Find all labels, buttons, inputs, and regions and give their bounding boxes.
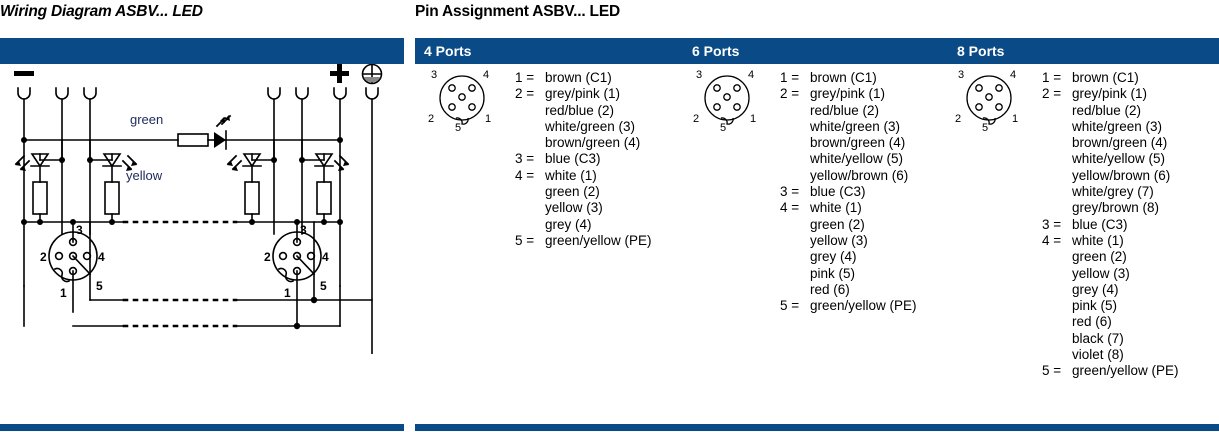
pin-value: green/yellow (PE) <box>1072 363 1179 378</box>
pin-line: red/blue (2) <box>780 103 917 119</box>
pin-value: blue (C3) <box>1072 217 1128 232</box>
pin-hole-4 <box>734 85 740 91</box>
connector-diagram-4-ports: 3 4 2 1 5 <box>425 66 499 132</box>
led-symbol-yellow-1 <box>15 154 49 171</box>
pin-list-8-ports: 1 =brown (C1)2 =grey/pink (1)red/blue (2… <box>1042 70 1179 380</box>
wiring-header-bar <box>0 38 404 64</box>
pin-assignment-footer-bar <box>415 424 1219 431</box>
connector-outline <box>967 76 1011 120</box>
pin-value: grey (4) <box>1072 282 1119 297</box>
pin-line: 5 =green/yellow (PE) <box>515 233 652 249</box>
pin-value: pink (5) <box>1072 298 1117 313</box>
pin-value: white/yellow (5) <box>810 151 903 166</box>
pin-line: white/yellow (5) <box>1042 151 1179 167</box>
connector-outline <box>705 76 749 120</box>
pin-hole-1 <box>996 104 1002 110</box>
pin-value: white (1) <box>810 200 862 215</box>
pin-line: grey (4) <box>1042 282 1179 298</box>
pin-line: 3 =blue (C3) <box>1042 217 1179 233</box>
pin-line: red (6) <box>1042 314 1179 330</box>
column-header-4-ports: 4 Ports <box>424 43 692 59</box>
pin-value: red/blue (2) <box>545 103 614 118</box>
pin-line: pink (5) <box>780 266 917 282</box>
left-pin-label-5: 5 <box>96 279 103 293</box>
pin-hole-center <box>459 94 465 100</box>
pin-hole-1 <box>469 104 475 110</box>
pin-index: 2 = <box>1042 86 1072 102</box>
pin-value: black (7) <box>1072 331 1124 346</box>
pin-line: grey/brown (8) <box>1042 200 1179 216</box>
pin-value: white/grey (7) <box>1072 184 1154 199</box>
pin-line: grey (4) <box>780 249 917 265</box>
pin-hole-3 <box>976 85 982 91</box>
pin-line: green (2) <box>780 217 917 233</box>
pin-line: 1 =brown (C1) <box>1042 70 1179 86</box>
pin-value: brown/green (4) <box>545 135 640 150</box>
pin-hole-2 <box>449 104 455 110</box>
pin-hole-center <box>986 94 992 100</box>
pin-hole-center <box>724 94 730 100</box>
pin-line: 4 =white (1) <box>515 168 652 184</box>
pin-line: white/green (3) <box>1042 119 1179 135</box>
pin-line: black (7) <box>1042 331 1179 347</box>
pin-index: 2 = <box>515 86 545 102</box>
pin-line: 2 =grey/pink (1) <box>780 86 917 102</box>
pin-value: yellow/brown (6) <box>810 168 908 183</box>
conn-label-4: 4 <box>483 69 489 81</box>
minus-symbol <box>14 71 34 76</box>
pin-value: grey/pink (1) <box>810 86 885 101</box>
pin-value: white (1) <box>1072 233 1124 248</box>
pin-value: green/yellow (PE) <box>545 233 652 248</box>
pin-value: red (6) <box>1072 314 1112 329</box>
pin-value: yellow (3) <box>810 233 868 248</box>
resistor-symbol <box>245 182 259 214</box>
pin-line: 3 =blue (C3) <box>515 151 652 167</box>
pin-assignment-panel: Pin Assignment ASBV... LED 4 Ports 6 Por… <box>415 0 1219 432</box>
right-pin-label-2: 2 <box>264 250 271 264</box>
pin-value: blue (C3) <box>810 184 866 199</box>
conn-label-5: 5 <box>982 122 988 132</box>
wiring-diagram-title: Wiring Diagram ASBV... LED <box>0 3 203 21</box>
right-pin-label-3: 3 <box>300 223 307 237</box>
led-symbol-yellow-4 <box>315 154 349 171</box>
pin-line: 1 =brown (C1) <box>515 70 652 86</box>
pin-line: yellow (3) <box>515 200 652 216</box>
conn-label-4: 4 <box>748 69 754 81</box>
pin-assignment-header-row: 4 Ports 6 Ports 8 Ports <box>415 38 1219 64</box>
pin-index: 5 = <box>780 298 810 314</box>
pin-hole-2 <box>976 104 982 110</box>
terminal-symbol <box>18 88 378 99</box>
pin-line: 2 =grey/pink (1) <box>1042 86 1179 102</box>
led-symbol-yellow-3 <box>227 154 261 171</box>
pin-line: 2 =grey/pink (1) <box>515 86 652 102</box>
conn-label-3: 3 <box>696 69 702 81</box>
pin-value: grey (4) <box>545 217 592 232</box>
conn-label-1: 1 <box>750 113 756 125</box>
pin-line: pink (5) <box>1042 298 1179 314</box>
pin-line: white/yellow (5) <box>780 151 917 167</box>
pin-assignment-title: Pin Assignment ASBV... LED <box>415 3 620 21</box>
pin-value: white/green (3) <box>810 119 900 134</box>
pin-index: 3 = <box>515 151 545 167</box>
pin-list-4-ports: 1 =brown (C1)2 =grey/pink (1)red/blue (2… <box>515 70 652 249</box>
pin-line: brown/green (4) <box>1042 135 1179 151</box>
pin-value: white/green (3) <box>545 119 635 134</box>
pin-value: yellow (3) <box>1072 266 1130 281</box>
conn-label-2: 2 <box>955 113 961 125</box>
pin-assignment-columns: 3 4 2 1 5 1 =brown (C1)2 =grey/pink (1)r… <box>415 66 1219 380</box>
pin-line: green (2) <box>1042 249 1179 265</box>
conn-label-1: 1 <box>485 113 491 125</box>
pin-value: green/yellow (PE) <box>810 298 917 313</box>
pin-value: grey/pink (1) <box>1072 86 1147 101</box>
pin-value: white/green (3) <box>1072 119 1162 134</box>
conn-label-2: 2 <box>428 113 434 125</box>
ground-symbol <box>363 65 382 84</box>
pin-value: grey (4) <box>810 249 857 264</box>
conn-label-5: 5 <box>455 122 461 132</box>
label-yellow: yellow <box>126 168 163 183</box>
connector-diagram-6-ports: 3 4 2 1 5 <box>690 66 764 132</box>
left-pin-label-2: 2 <box>40 250 47 264</box>
pin-line: yellow (3) <box>1042 266 1179 282</box>
pin-value: grey/brown (8) <box>1072 200 1159 215</box>
pin-value: red/blue (2) <box>810 103 879 118</box>
pin-list-6-ports: 1 =brown (C1)2 =grey/pink (1)red/blue (2… <box>780 70 917 314</box>
pin-line: 5 =green/yellow (PE) <box>1042 363 1179 379</box>
pin-index: 1 = <box>1042 70 1072 86</box>
conn-label-1: 1 <box>1012 113 1018 125</box>
pin-index: 5 = <box>1042 363 1072 379</box>
pin-value: grey/pink (1) <box>545 86 620 101</box>
pin-column-4-ports: 3 4 2 1 5 1 =brown (C1)2 =grey/pink (1)r… <box>415 66 680 380</box>
resistor-symbol <box>33 182 47 214</box>
pin-line: yellow/brown (6) <box>780 168 917 184</box>
pin-hole-3 <box>714 85 720 91</box>
pin-index: 4 = <box>515 168 545 184</box>
left-pin-label-4: 4 <box>98 250 105 264</box>
pin-value: white/yellow (5) <box>1072 151 1165 166</box>
pin-value: red (6) <box>810 282 850 297</box>
pin-column-8-ports: 3 4 2 1 5 1 =brown (C1)2 =grey/pink (1)r… <box>942 66 1219 380</box>
wiring-footer-bar <box>0 424 404 431</box>
connector-outline <box>440 76 484 120</box>
left-pin-label-3: 3 <box>76 223 83 237</box>
pin-hole-1 <box>734 104 740 110</box>
right-pin-label-1: 1 <box>284 286 291 300</box>
column-header-6-ports: 6 Ports <box>692 43 957 59</box>
wiring-diagram-panel: Wiring Diagram ASBV... LED <box>0 0 404 432</box>
pin-value: green (2) <box>545 184 600 199</box>
led-symbol-green <box>214 115 230 149</box>
pin-line: 4 =white (1) <box>780 200 917 216</box>
pin-line: brown/green (4) <box>780 135 917 151</box>
left-pin-label-1: 1 <box>60 286 67 300</box>
pin-value: red/blue (2) <box>1072 103 1141 118</box>
resistor-symbol <box>178 134 208 146</box>
pin-value: brown/green (4) <box>1072 135 1167 150</box>
pin-hole-4 <box>996 85 1002 91</box>
pin-line: red (6) <box>780 282 917 298</box>
pin-value: pink (5) <box>810 266 855 281</box>
pin-line: 5 =green/yellow (PE) <box>780 298 917 314</box>
pin-hole-3 <box>449 85 455 91</box>
conn-label-5: 5 <box>720 122 726 132</box>
pin-line: 1 =brown (C1) <box>780 70 917 86</box>
pin-line: green (2) <box>515 184 652 200</box>
resistor-symbol <box>317 182 331 214</box>
pin-index: 1 = <box>515 70 545 86</box>
conn-label-4: 4 <box>1010 69 1016 81</box>
pin-line: grey (4) <box>515 217 652 233</box>
pin-value: brown (C1) <box>545 70 612 85</box>
conn-label-2: 2 <box>693 113 699 125</box>
pin-line: white/green (3) <box>515 119 652 135</box>
pin-index: 3 = <box>780 184 810 200</box>
pin-line: red/blue (2) <box>1042 103 1179 119</box>
pin-index: 5 = <box>515 233 545 249</box>
pin-value: brown (C1) <box>810 70 877 85</box>
right-pin-label-5: 5 <box>320 279 327 293</box>
pin-value: white (1) <box>545 168 597 183</box>
pin-column-6-ports: 3 4 2 1 5 1 =brown (C1)2 =grey/pink (1)r… <box>680 66 942 380</box>
pin-value: brown (C1) <box>1072 70 1139 85</box>
pin-line: red/blue (2) <box>515 103 652 119</box>
pin-hole-2 <box>714 104 720 110</box>
pin-index: 2 = <box>780 86 810 102</box>
conn-label-3: 3 <box>431 69 437 81</box>
resistor-symbol <box>105 182 119 214</box>
pin-line: 4 =white (1) <box>1042 233 1179 249</box>
label-green: green <box>130 112 163 127</box>
connector-diagram-8-ports: 3 4 2 1 5 <box>952 66 1026 132</box>
pin-line: yellow/brown (6) <box>1042 168 1179 184</box>
pin-value: yellow (3) <box>545 200 603 215</box>
pin-value: blue (C3) <box>545 151 601 166</box>
pin-value: yellow/brown (6) <box>1072 168 1170 183</box>
right-pin-label-4: 4 <box>322 250 329 264</box>
pin-value: green (2) <box>810 217 865 232</box>
pin-line: brown/green (4) <box>515 135 652 151</box>
pin-index: 3 = <box>1042 217 1072 233</box>
pin-hole-4 <box>469 85 475 91</box>
column-header-8-ports: 8 Ports <box>957 43 1217 59</box>
pin-index: 4 = <box>1042 233 1072 249</box>
pin-line: 3 =blue (C3) <box>780 184 917 200</box>
pin-index: 1 = <box>780 70 810 86</box>
pin-line: white/green (3) <box>780 119 917 135</box>
pin-value: green (2) <box>1072 249 1127 264</box>
pin-line: white/grey (7) <box>1042 184 1179 200</box>
pin-value: brown/green (4) <box>810 135 905 150</box>
pin-line: violet (8) <box>1042 347 1179 363</box>
pin-value: violet (8) <box>1072 347 1124 362</box>
pin-line: yellow (3) <box>780 233 917 249</box>
pin-index: 4 = <box>780 200 810 216</box>
wiring-schematic: green yellow 3 2 4 5 1 3 2 4 5 1 <box>0 64 404 354</box>
conn-label-3: 3 <box>958 69 964 81</box>
plus-symbol <box>330 64 349 83</box>
